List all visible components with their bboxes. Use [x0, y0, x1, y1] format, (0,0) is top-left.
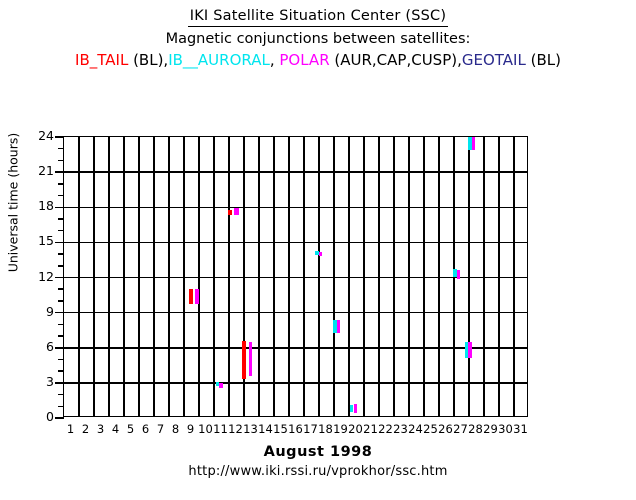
y-tick-major — [55, 136, 64, 138]
y-tick-major — [55, 277, 64, 279]
gridline-horizontal — [64, 242, 527, 244]
conjunction-marker — [219, 383, 222, 388]
conjunction-marker — [472, 137, 475, 150]
y-tick-minor — [58, 370, 64, 372]
y-tick-minor — [58, 218, 64, 220]
plot-area — [63, 136, 528, 417]
y-tick-label: 6 — [46, 341, 54, 354]
y-tick-minor — [58, 195, 64, 197]
gridline-horizontal — [64, 171, 527, 173]
x-tick-label: 5 — [127, 424, 134, 436]
x-tick-label: 10 — [198, 424, 213, 436]
x-tick-label: 6 — [142, 424, 149, 436]
y-tick-major — [55, 242, 64, 244]
x-tick-label: 12 — [228, 424, 243, 436]
x-tick-label: 30 — [498, 424, 513, 436]
y-tick-label: 15 — [38, 235, 54, 248]
y-tick-minor — [58, 230, 64, 232]
conjunction-chart: Universal time (hours) 03691215182124 12… — [0, 0, 636, 500]
y-tick-label: 9 — [46, 305, 54, 318]
x-tick-label: 7 — [157, 424, 164, 436]
x-tick-label: 25 — [423, 424, 438, 436]
y-tick-major — [55, 207, 64, 209]
x-tick-label: 20 — [348, 424, 363, 436]
conjunction-marker — [354, 404, 357, 413]
x-axis-tick-labels: 1234567891011121314151617181920212223242… — [63, 424, 528, 440]
x-tick-label: 18 — [318, 424, 333, 436]
gridline-horizontal — [64, 207, 527, 209]
x-tick-label: 1 — [67, 424, 74, 436]
x-tick-label: 9 — [187, 424, 194, 436]
y-tick-minor — [58, 300, 64, 302]
conjunction-marker — [242, 341, 246, 380]
conjunction-marker — [234, 208, 239, 215]
x-tick-label: 15 — [273, 424, 288, 436]
conjunction-marker — [457, 270, 460, 278]
y-tick-major — [55, 382, 64, 384]
x-tick-label: 14 — [258, 424, 273, 436]
x-tick-label: 2 — [82, 424, 89, 436]
y-tick-minor — [58, 288, 64, 290]
x-tick-label: 29 — [483, 424, 498, 436]
conjunction-marker — [319, 252, 322, 257]
x-tick-label: 22 — [378, 424, 393, 436]
y-tick-minor — [58, 148, 64, 150]
y-axis-title: Universal time (hours) — [6, 108, 21, 298]
y-tick-minor — [58, 359, 64, 361]
conjunction-marker — [189, 289, 192, 304]
y-tick-minor — [58, 394, 64, 396]
y-tick-label: 24 — [38, 130, 54, 143]
y-axis-tick-labels: 03691215182124 — [22, 136, 54, 417]
x-tick-label: 19 — [333, 424, 348, 436]
conjunction-marker — [195, 289, 198, 304]
gridline-horizontal — [64, 382, 527, 384]
y-tick-minor — [58, 265, 64, 267]
y-tick-minor — [58, 406, 64, 408]
y-tick-major — [55, 312, 64, 314]
x-tick-label: 17 — [303, 424, 318, 436]
x-tick-label: 8 — [172, 424, 179, 436]
y-tick-label: 0 — [46, 411, 54, 424]
y-tick-label: 12 — [38, 270, 54, 283]
y-tick-label: 21 — [38, 165, 54, 178]
conjunction-marker — [337, 320, 340, 333]
x-tick-label: 23 — [393, 424, 408, 436]
x-tick-label: 21 — [363, 424, 378, 436]
y-tick-label: 18 — [38, 200, 54, 213]
conjunction-marker — [249, 342, 253, 376]
y-tick-label: 3 — [46, 376, 54, 389]
x-tick-label: 28 — [468, 424, 483, 436]
y-tick-minor — [58, 160, 64, 162]
x-tick-label: 11 — [213, 424, 228, 436]
x-tick-label: 3 — [97, 424, 104, 436]
x-tick-label: 13 — [243, 424, 258, 436]
x-tick-label: 16 — [288, 424, 303, 436]
y-tick-minor — [58, 183, 64, 185]
gridline-horizontal — [64, 312, 527, 314]
gridline-horizontal — [64, 347, 527, 349]
x-tick-label: 26 — [438, 424, 453, 436]
source-url: http://www.iki.rssi.ru/vprokhor/ssc.htm — [0, 464, 636, 479]
y-tick-major — [55, 171, 64, 173]
conjunction-marker — [468, 342, 471, 358]
y-tick-major — [55, 347, 64, 349]
x-tick-label: 24 — [408, 424, 423, 436]
x-tick-label: 4 — [112, 424, 119, 436]
x-axis-title: August 1998 — [0, 444, 636, 460]
conjunction-marker — [228, 210, 232, 216]
x-tick-label: 31 — [513, 424, 528, 436]
y-tick-minor — [58, 253, 64, 255]
y-tick-minor — [58, 335, 64, 337]
x-tick-label: 27 — [453, 424, 468, 436]
y-tick-minor — [58, 324, 64, 326]
y-tick-major — [55, 417, 64, 419]
